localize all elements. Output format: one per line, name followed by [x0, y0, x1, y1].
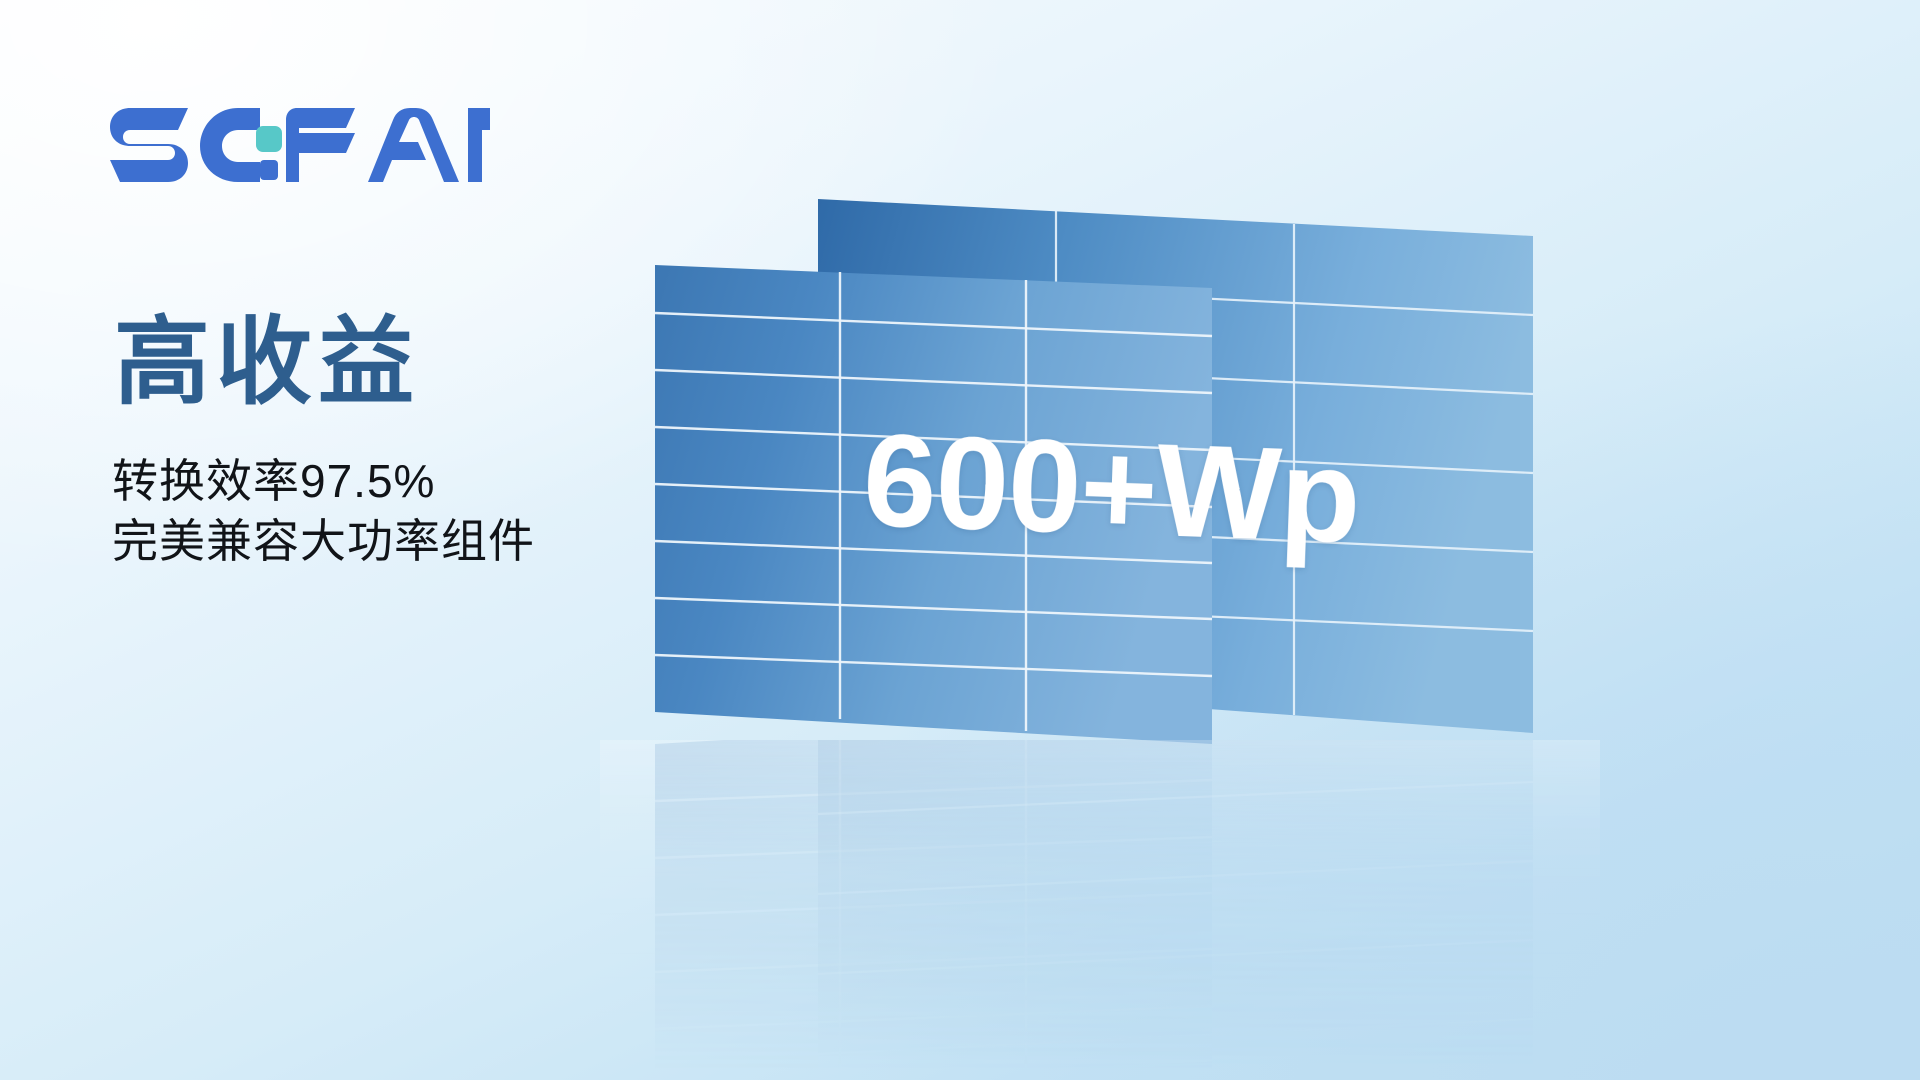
subtitle-line-1: 转换效率97.5%: [112, 455, 435, 507]
subtitle-line-2: 完美兼容大功率组件: [112, 512, 535, 572]
banner-canvas: 600+Wp 高收益 转换效率97.5% 完美兼容大功: [0, 0, 1920, 1080]
power-rating-label: 600+Wp: [861, 404, 1363, 572]
logo-accent-square: [256, 126, 282, 152]
subtitle-block: 转换效率97.5% 完美兼容大功率组件: [112, 452, 535, 572]
sofar-logo[interactable]: [110, 104, 490, 186]
logo-accent-dot: [260, 160, 278, 180]
logo-letterforms: [110, 108, 490, 182]
page-headline: 高收益: [114, 313, 420, 414]
